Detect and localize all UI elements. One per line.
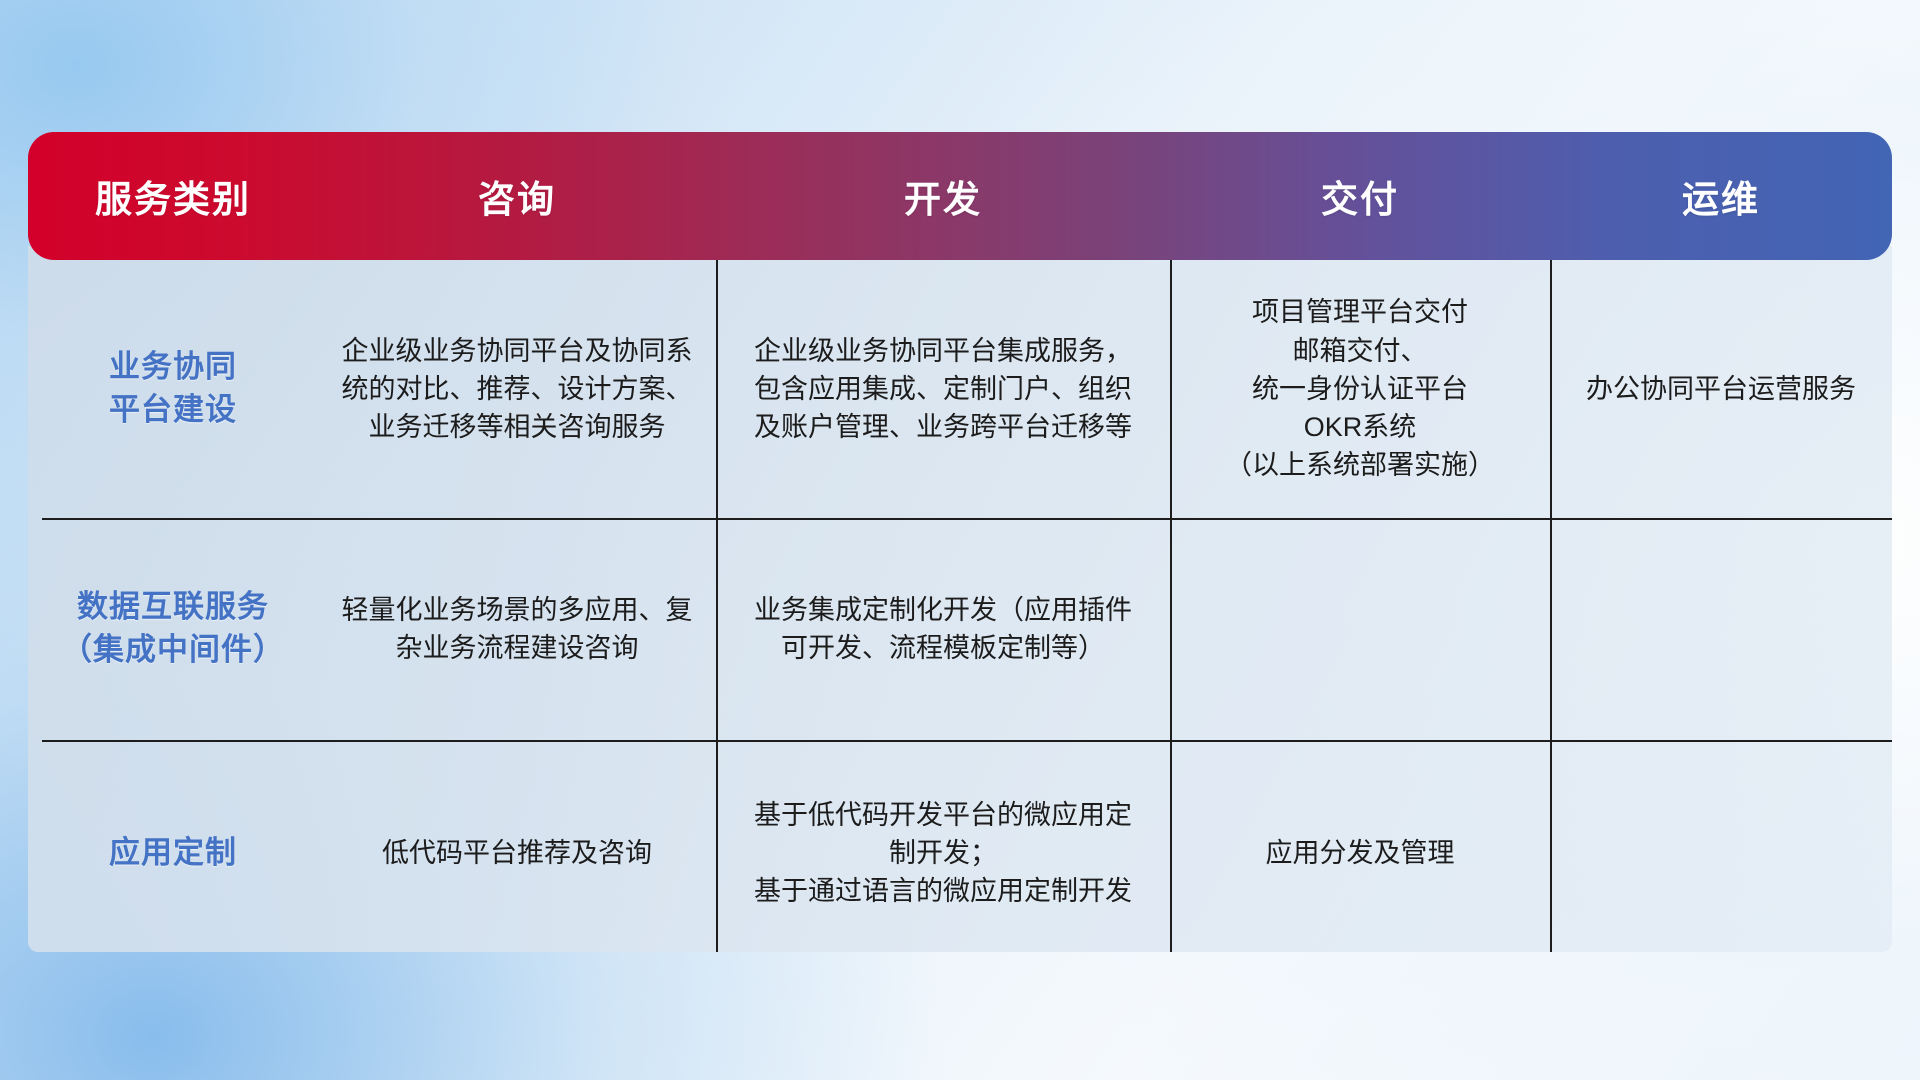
cell-text: 项目管理平台交付 邮箱交付、 统一身份认证平台 OKR系统 （以上系统部署实施） [1225, 293, 1495, 485]
table-row: 业务协同 平台建设 企业级业务协同平台及协同系 统的对比、推荐、设计方案、 业务… [28, 260, 1892, 518]
cell-row1-development: 企业级业务协同平台集成服务， 包含应用集成、定制门户、组织 及账户管理、业务跨平… [716, 260, 1170, 518]
cell-text: 办公协同平台运营服务 [1586, 370, 1856, 408]
cell-row2-development: 业务集成定制化开发（应用插件 可开发、流程模板定制等） [716, 518, 1170, 740]
cell-row2-delivery [1170, 518, 1550, 740]
cell-row3-consulting: 低代码平台推荐及咨询 [318, 740, 716, 966]
row-divider-2 [42, 740, 1892, 742]
cell-text: 基于低代码开发平台的微应用定 制开发； 基于通过语言的微应用定制开发 [754, 796, 1132, 911]
cell-text: 企业级业务协同平台集成服务， 包含应用集成、定制门户、组织 及账户管理、业务跨平… [754, 332, 1132, 447]
cell-row2-consulting: 轻量化业务场景的多应用、复 杂业务流程建设咨询 [318, 518, 716, 740]
column-header-category: 服务类别 [28, 132, 318, 260]
cell-row1-operations: 办公协同平台运营服务 [1550, 260, 1892, 518]
column-header-delivery-label: 交付 [1321, 169, 1399, 223]
cell-row1-consulting: 企业级业务协同平台及协同系 统的对比、推荐、设计方案、 业务迁移等相关咨询服务 [318, 260, 716, 518]
cell-text: 轻量化业务场景的多应用、复 杂业务流程建设咨询 [342, 591, 693, 668]
table-row: 数据互联服务 （集成中间件） 轻量化业务场景的多应用、复 杂业务流程建设咨询 业… [28, 518, 1892, 740]
column-header-operations-label: 运维 [1682, 169, 1760, 223]
row-divider-1 [42, 518, 1892, 520]
row-label-text: 应用定制 [109, 832, 237, 875]
cell-text: 企业级业务协同平台及协同系 统的对比、推荐、设计方案、 业务迁移等相关咨询服务 [342, 332, 693, 447]
row-label-text: 业务协同 平台建设 [109, 346, 237, 432]
row-label-business-collaboration: 业务协同 平台建设 [28, 260, 318, 518]
row-label-text: 数据互联服务 （集成中间件） [61, 586, 285, 672]
column-header-consulting: 咨询 [318, 132, 716, 260]
cell-row2-operations [1550, 518, 1892, 740]
column-header-development-label: 开发 [904, 169, 982, 223]
row-label-data-interconnect: 数据互联服务 （集成中间件） [28, 518, 318, 740]
column-divider-delivery-operations [1550, 260, 1552, 952]
column-header-category-label: 服务类别 [95, 169, 251, 223]
table-header-row: 服务类别 咨询 开发 交付 运维 [28, 132, 1892, 260]
column-header-delivery: 交付 [1170, 132, 1550, 260]
row-label-app-customization: 应用定制 [28, 740, 318, 966]
column-header-operations: 运维 [1550, 132, 1892, 260]
column-header-development: 开发 [716, 132, 1170, 260]
cell-text: 业务集成定制化开发（应用插件 可开发、流程模板定制等） [754, 591, 1132, 668]
cell-text: 低代码平台推荐及咨询 [382, 834, 652, 872]
column-header-consulting-label: 咨询 [478, 169, 556, 223]
table-body: 业务协同 平台建设 企业级业务协同平台及协同系 统的对比、推荐、设计方案、 业务… [28, 246, 1892, 952]
table-row: 应用定制 低代码平台推荐及咨询 基于低代码开发平台的微应用定 制开发； 基于通过… [28, 740, 1892, 966]
cell-text: 应用分发及管理 [1266, 834, 1455, 872]
cell-row3-operations [1550, 740, 1892, 966]
cell-row1-delivery: 项目管理平台交付 邮箱交付、 统一身份认证平台 OKR系统 （以上系统部署实施） [1170, 260, 1550, 518]
column-divider-consulting-development [716, 260, 718, 952]
cell-row3-delivery: 应用分发及管理 [1170, 740, 1550, 966]
cell-row3-development: 基于低代码开发平台的微应用定 制开发； 基于通过语言的微应用定制开发 [716, 740, 1170, 966]
service-matrix-table: 服务类别 咨询 开发 交付 运维 业务协同 平台建设 企业级业务协同平台及协同系… [28, 132, 1892, 952]
column-divider-development-delivery [1170, 260, 1172, 952]
